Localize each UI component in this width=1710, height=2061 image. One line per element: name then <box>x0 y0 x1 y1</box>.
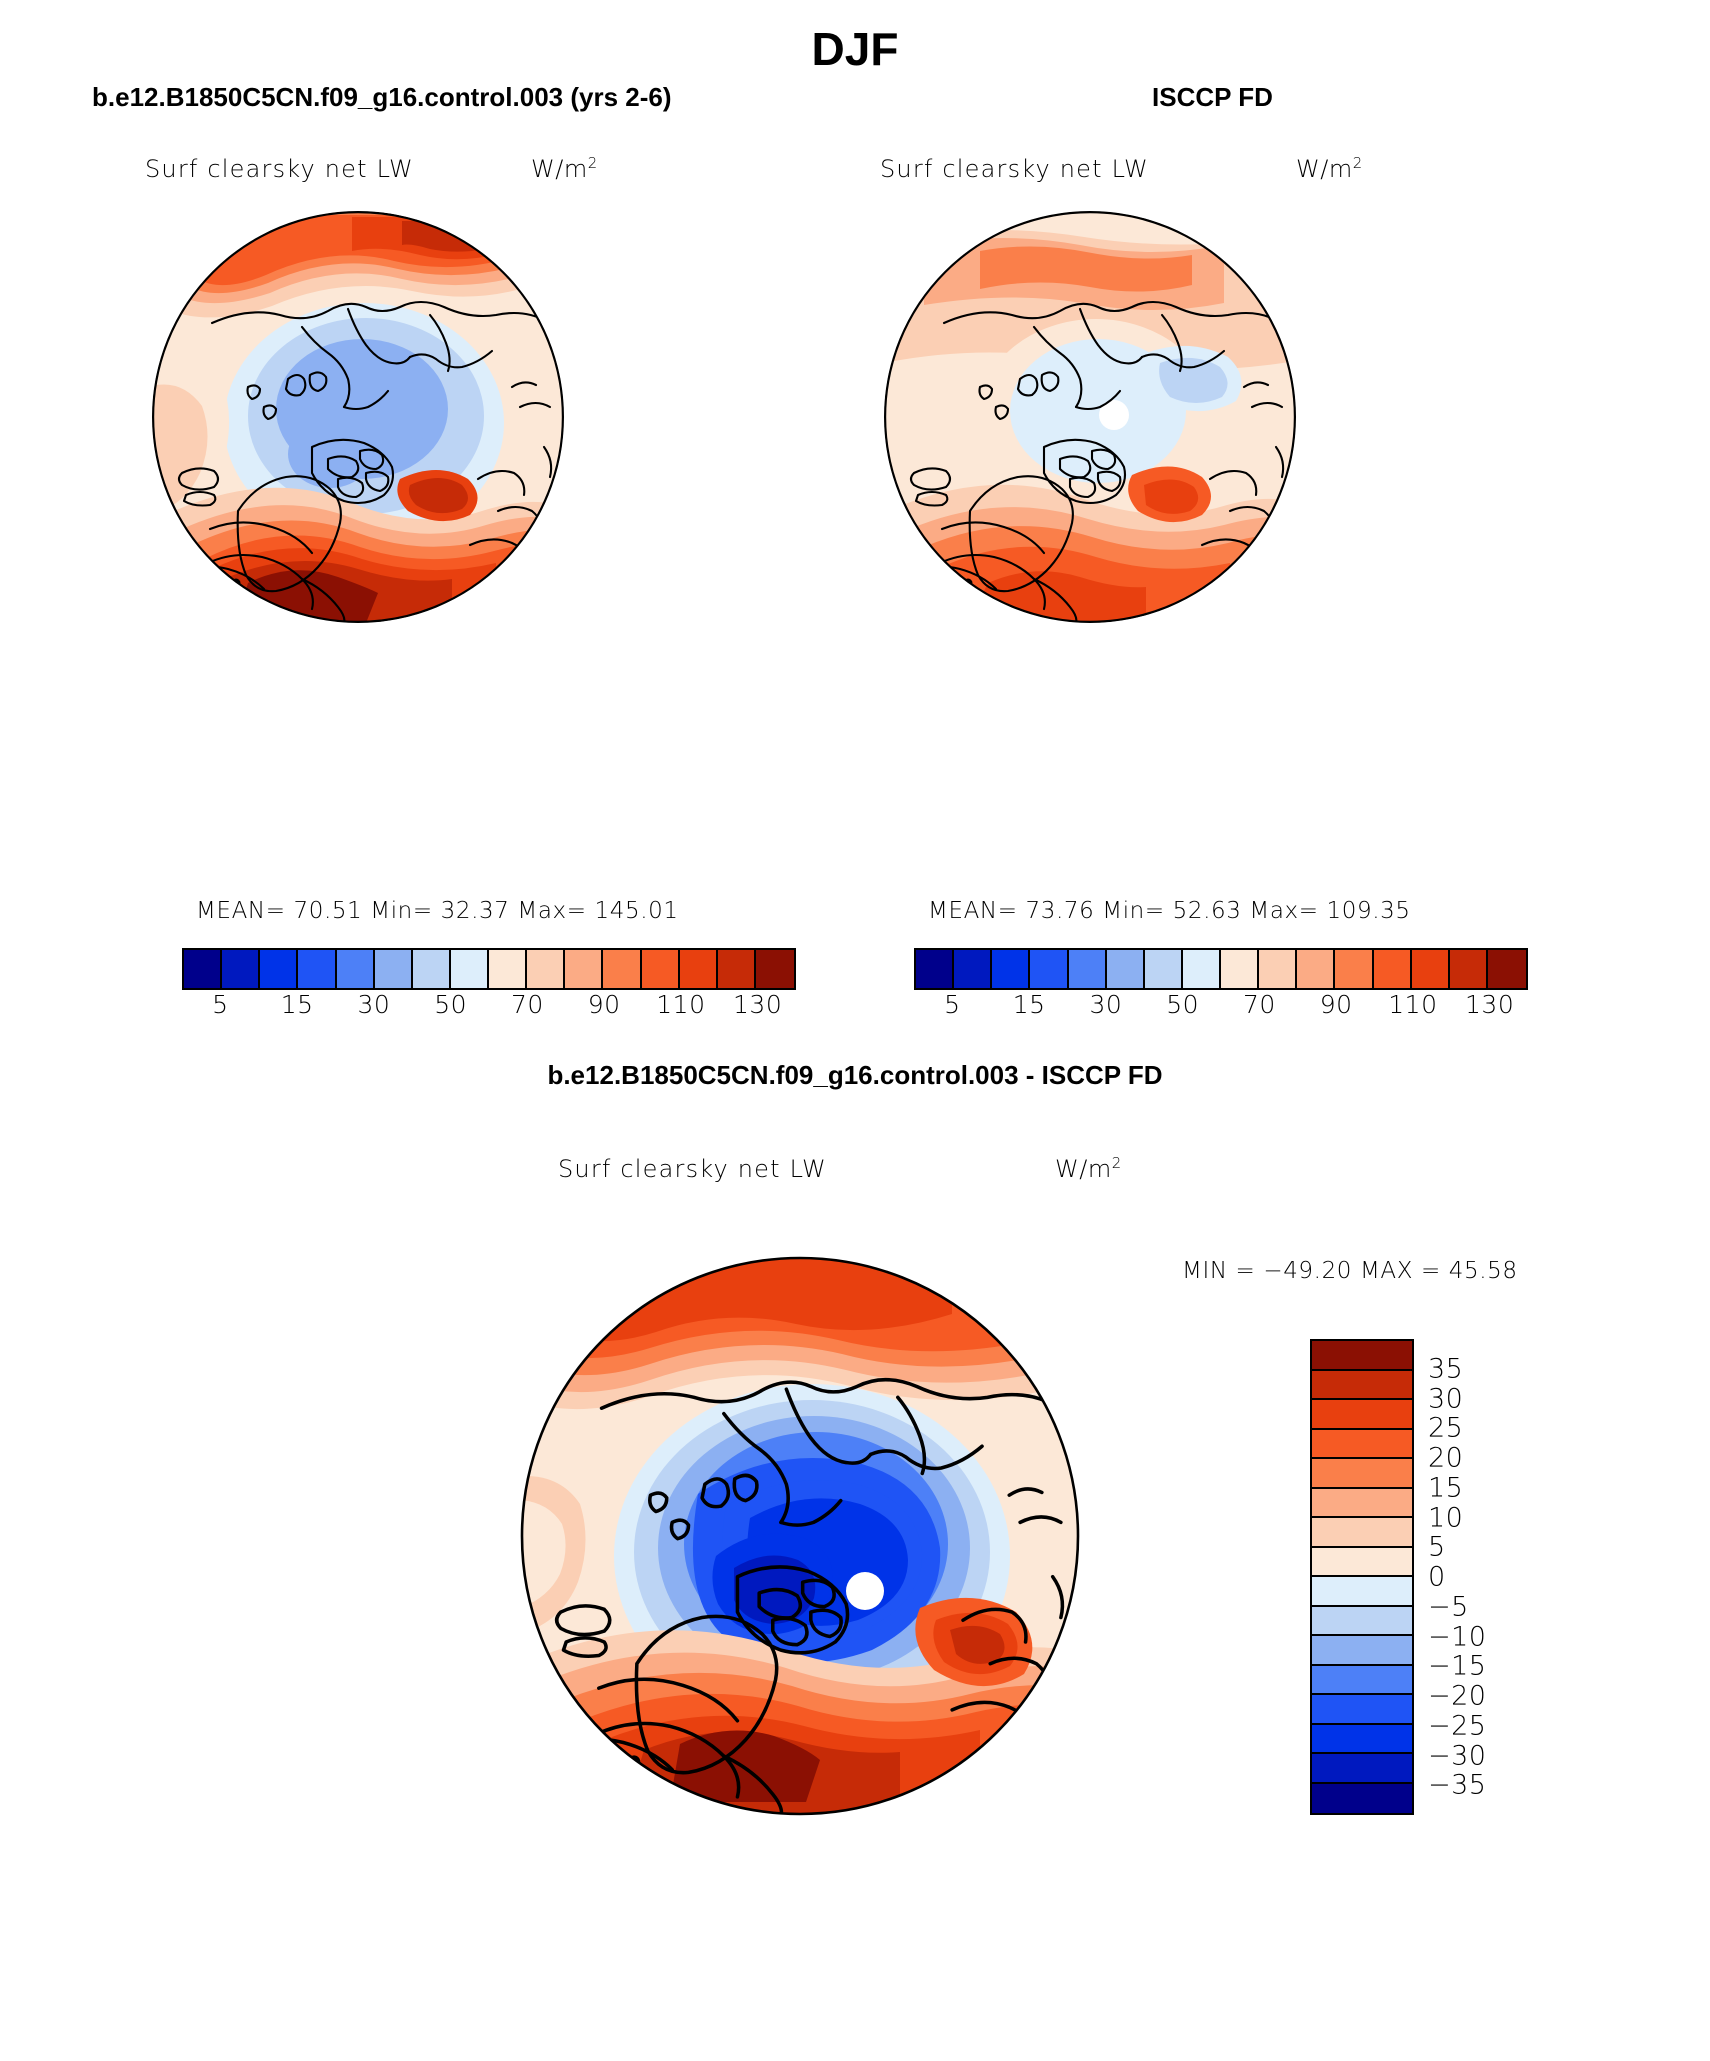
colorbar-tick-label: 5 <box>944 990 960 1019</box>
colorbar-tick-label: −30 <box>1428 1740 1486 1771</box>
colorbar-swatch <box>222 950 260 988</box>
diff-units-exponent: 2 <box>1112 1154 1122 1172</box>
colorbar-swatch <box>451 950 489 988</box>
obs-units-exponent: 2 <box>1353 154 1363 172</box>
obs-panel-variable-label: Surf clearsky net LW <box>880 155 1149 183</box>
figure-season-title: DJF <box>0 22 1710 76</box>
diff-colorbar-labels: 35302520151050−5−10−15−20−25−30−35 <box>1428 1339 1538 1815</box>
diff-panel-variable-label: Surf clearsky net LW <box>558 1155 827 1183</box>
obs-map-svg <box>884 211 1296 623</box>
test-panel-colorbar[interactable]: 51530507090110130 <box>182 948 796 1024</box>
colorbar-tick-label: 70 <box>511 990 544 1019</box>
colorbar-swatch <box>489 950 527 988</box>
test-units-text: W/m <box>531 155 588 183</box>
colorbar-swatch <box>954 950 992 988</box>
colorbar-swatch <box>1312 1577 1412 1607</box>
test-colorbar-labels: 51530507090110130 <box>182 990 796 1024</box>
colorbar-tick-label: 110 <box>1388 990 1437 1019</box>
colorbar-tick-label: −35 <box>1428 1770 1486 1801</box>
colorbar-swatch <box>1312 1371 1412 1401</box>
colorbar-tick-label: 15 <box>1013 990 1046 1019</box>
colorbar-swatch <box>565 950 603 988</box>
obs-panel-units-label: W/m2 <box>1296 155 1363 183</box>
obs-panel-colorbar[interactable]: 51530507090110130 <box>914 948 1528 1024</box>
colorbar-tick-label: −15 <box>1428 1651 1486 1682</box>
colorbar-tick-label: 15 <box>281 990 314 1019</box>
colorbar-swatch <box>1312 1725 1412 1755</box>
colorbar-swatch <box>916 950 954 988</box>
colorbar-tick-label: 20 <box>1428 1443 1463 1474</box>
colorbar-tick-label: 90 <box>1320 990 1353 1019</box>
colorbar-tick-label: 30 <box>1428 1383 1463 1414</box>
colorbar-swatch <box>1312 1459 1412 1489</box>
colorbar-tick-label: 30 <box>1089 990 1122 1019</box>
diff-panel-colorbar[interactable] <box>1310 1339 1414 1815</box>
colorbar-swatch <box>375 950 413 988</box>
colorbar-swatch <box>1312 1400 1412 1430</box>
colorbar-tick-label: 50 <box>434 990 467 1019</box>
colorbar-swatch <box>1259 950 1297 988</box>
colorbar-tick-label: −25 <box>1428 1710 1486 1741</box>
colorbar-swatch <box>1312 1518 1412 1548</box>
colorbar-tick-label: −20 <box>1428 1681 1486 1712</box>
colorbar-swatch <box>298 950 336 988</box>
colorbar-tick-label: 5 <box>1428 1532 1446 1563</box>
colorbar-swatch <box>1312 1666 1412 1696</box>
colorbar-swatch <box>1374 950 1412 988</box>
colorbar-swatch <box>1069 950 1107 988</box>
colorbar-tick-label: 35 <box>1428 1353 1463 1384</box>
colorbar-tick-label: −10 <box>1428 1621 1486 1652</box>
diff-panel-units-label: W/m2 <box>1055 1155 1122 1183</box>
test-map-svg <box>152 211 564 623</box>
colorbar-swatch <box>1183 950 1221 988</box>
colorbar-swatch <box>680 950 718 988</box>
colorbar-swatch <box>1312 1430 1412 1460</box>
colorbar-swatch <box>1312 1784 1412 1814</box>
colorbar-swatch <box>1145 950 1183 988</box>
colorbar-swatch <box>1312 1489 1412 1519</box>
obs-units-text: W/m <box>1296 155 1353 183</box>
test-units-exponent: 2 <box>588 154 598 172</box>
colorbar-swatch <box>1030 950 1068 988</box>
diff-panel-case-title: b.e12.B1850C5CN.f09_g16.control.003 - IS… <box>0 1060 1710 1091</box>
colorbar-swatch <box>260 950 298 988</box>
obs-panel-case-title: ISCCP FD <box>1152 82 1273 113</box>
colorbar-swatch <box>1312 1636 1412 1666</box>
colorbar-swatch <box>1488 950 1526 988</box>
test-panel-variable-label: Surf clearsky net LW <box>145 155 414 183</box>
colorbar-swatch <box>603 950 641 988</box>
colorbar-tick-label: 0 <box>1428 1562 1446 1593</box>
colorbar-tick-label: 50 <box>1166 990 1199 1019</box>
colorbar-swatch <box>992 950 1030 988</box>
colorbar-swatch <box>1297 950 1335 988</box>
diff-panel-map[interactable] <box>520 1256 1080 1816</box>
colorbar-tick-label: 15 <box>1428 1472 1463 1503</box>
diff-colorbar-strip[interactable] <box>1310 1339 1414 1815</box>
colorbar-tick-label: 130 <box>733 990 782 1019</box>
obs-colorbar-strip[interactable] <box>914 948 1528 990</box>
test-panel-case-title: b.e12.B1850C5CN.f09_g16.control.003 (yrs… <box>92 82 672 113</box>
obs-panel-map[interactable] <box>884 211 1296 623</box>
colorbar-swatch <box>642 950 680 988</box>
colorbar-swatch <box>756 950 794 988</box>
test-panel-units-label: W/m2 <box>531 155 598 183</box>
colorbar-swatch <box>1412 950 1450 988</box>
colorbar-swatch <box>184 950 222 988</box>
diff-panel-minmax: MIN = −49.20 MAX = 45.58 <box>1182 1258 1518 1284</box>
colorbar-tick-label: 30 <box>357 990 390 1019</box>
colorbar-swatch <box>337 950 375 988</box>
colorbar-swatch <box>1107 950 1145 988</box>
diff-pole-missing-marker <box>846 1572 884 1610</box>
colorbar-swatch <box>1312 1754 1412 1784</box>
colorbar-swatch <box>527 950 565 988</box>
colorbar-swatch <box>1312 1695 1412 1725</box>
diff-units-text: W/m <box>1055 1155 1112 1183</box>
colorbar-swatch <box>1312 1341 1412 1371</box>
test-panel-stats: MEAN= 70.51 Min= 32.37 Max= 145.01 <box>196 898 679 924</box>
colorbar-swatch <box>1221 950 1259 988</box>
colorbar-swatch <box>1312 1607 1412 1637</box>
colorbar-tick-label: 10 <box>1428 1502 1463 1533</box>
colorbar-tick-label: 25 <box>1428 1413 1463 1444</box>
colorbar-tick-label: 130 <box>1465 990 1514 1019</box>
colorbar-tick-label: −5 <box>1428 1591 1469 1622</box>
colorbar-swatch <box>413 950 451 988</box>
colorbar-tick-label: 110 <box>656 990 705 1019</box>
colorbar-tick-label: 5 <box>212 990 228 1019</box>
colorbar-swatch <box>718 950 756 988</box>
colorbar-swatch <box>1335 950 1373 988</box>
colorbar-tick-label: 70 <box>1243 990 1276 1019</box>
colorbar-swatch <box>1450 950 1488 988</box>
diff-map-svg <box>520 1256 1080 1816</box>
obs-panel-stats: MEAN= 73.76 Min= 52.63 Max= 109.35 <box>928 898 1411 924</box>
colorbar-tick-label: 90 <box>588 990 621 1019</box>
test-colorbar-strip[interactable] <box>182 948 796 990</box>
colorbar-swatch <box>1312 1548 1412 1578</box>
obs-colorbar-labels: 51530507090110130 <box>914 990 1528 1024</box>
test-panel-map[interactable] <box>152 211 564 623</box>
